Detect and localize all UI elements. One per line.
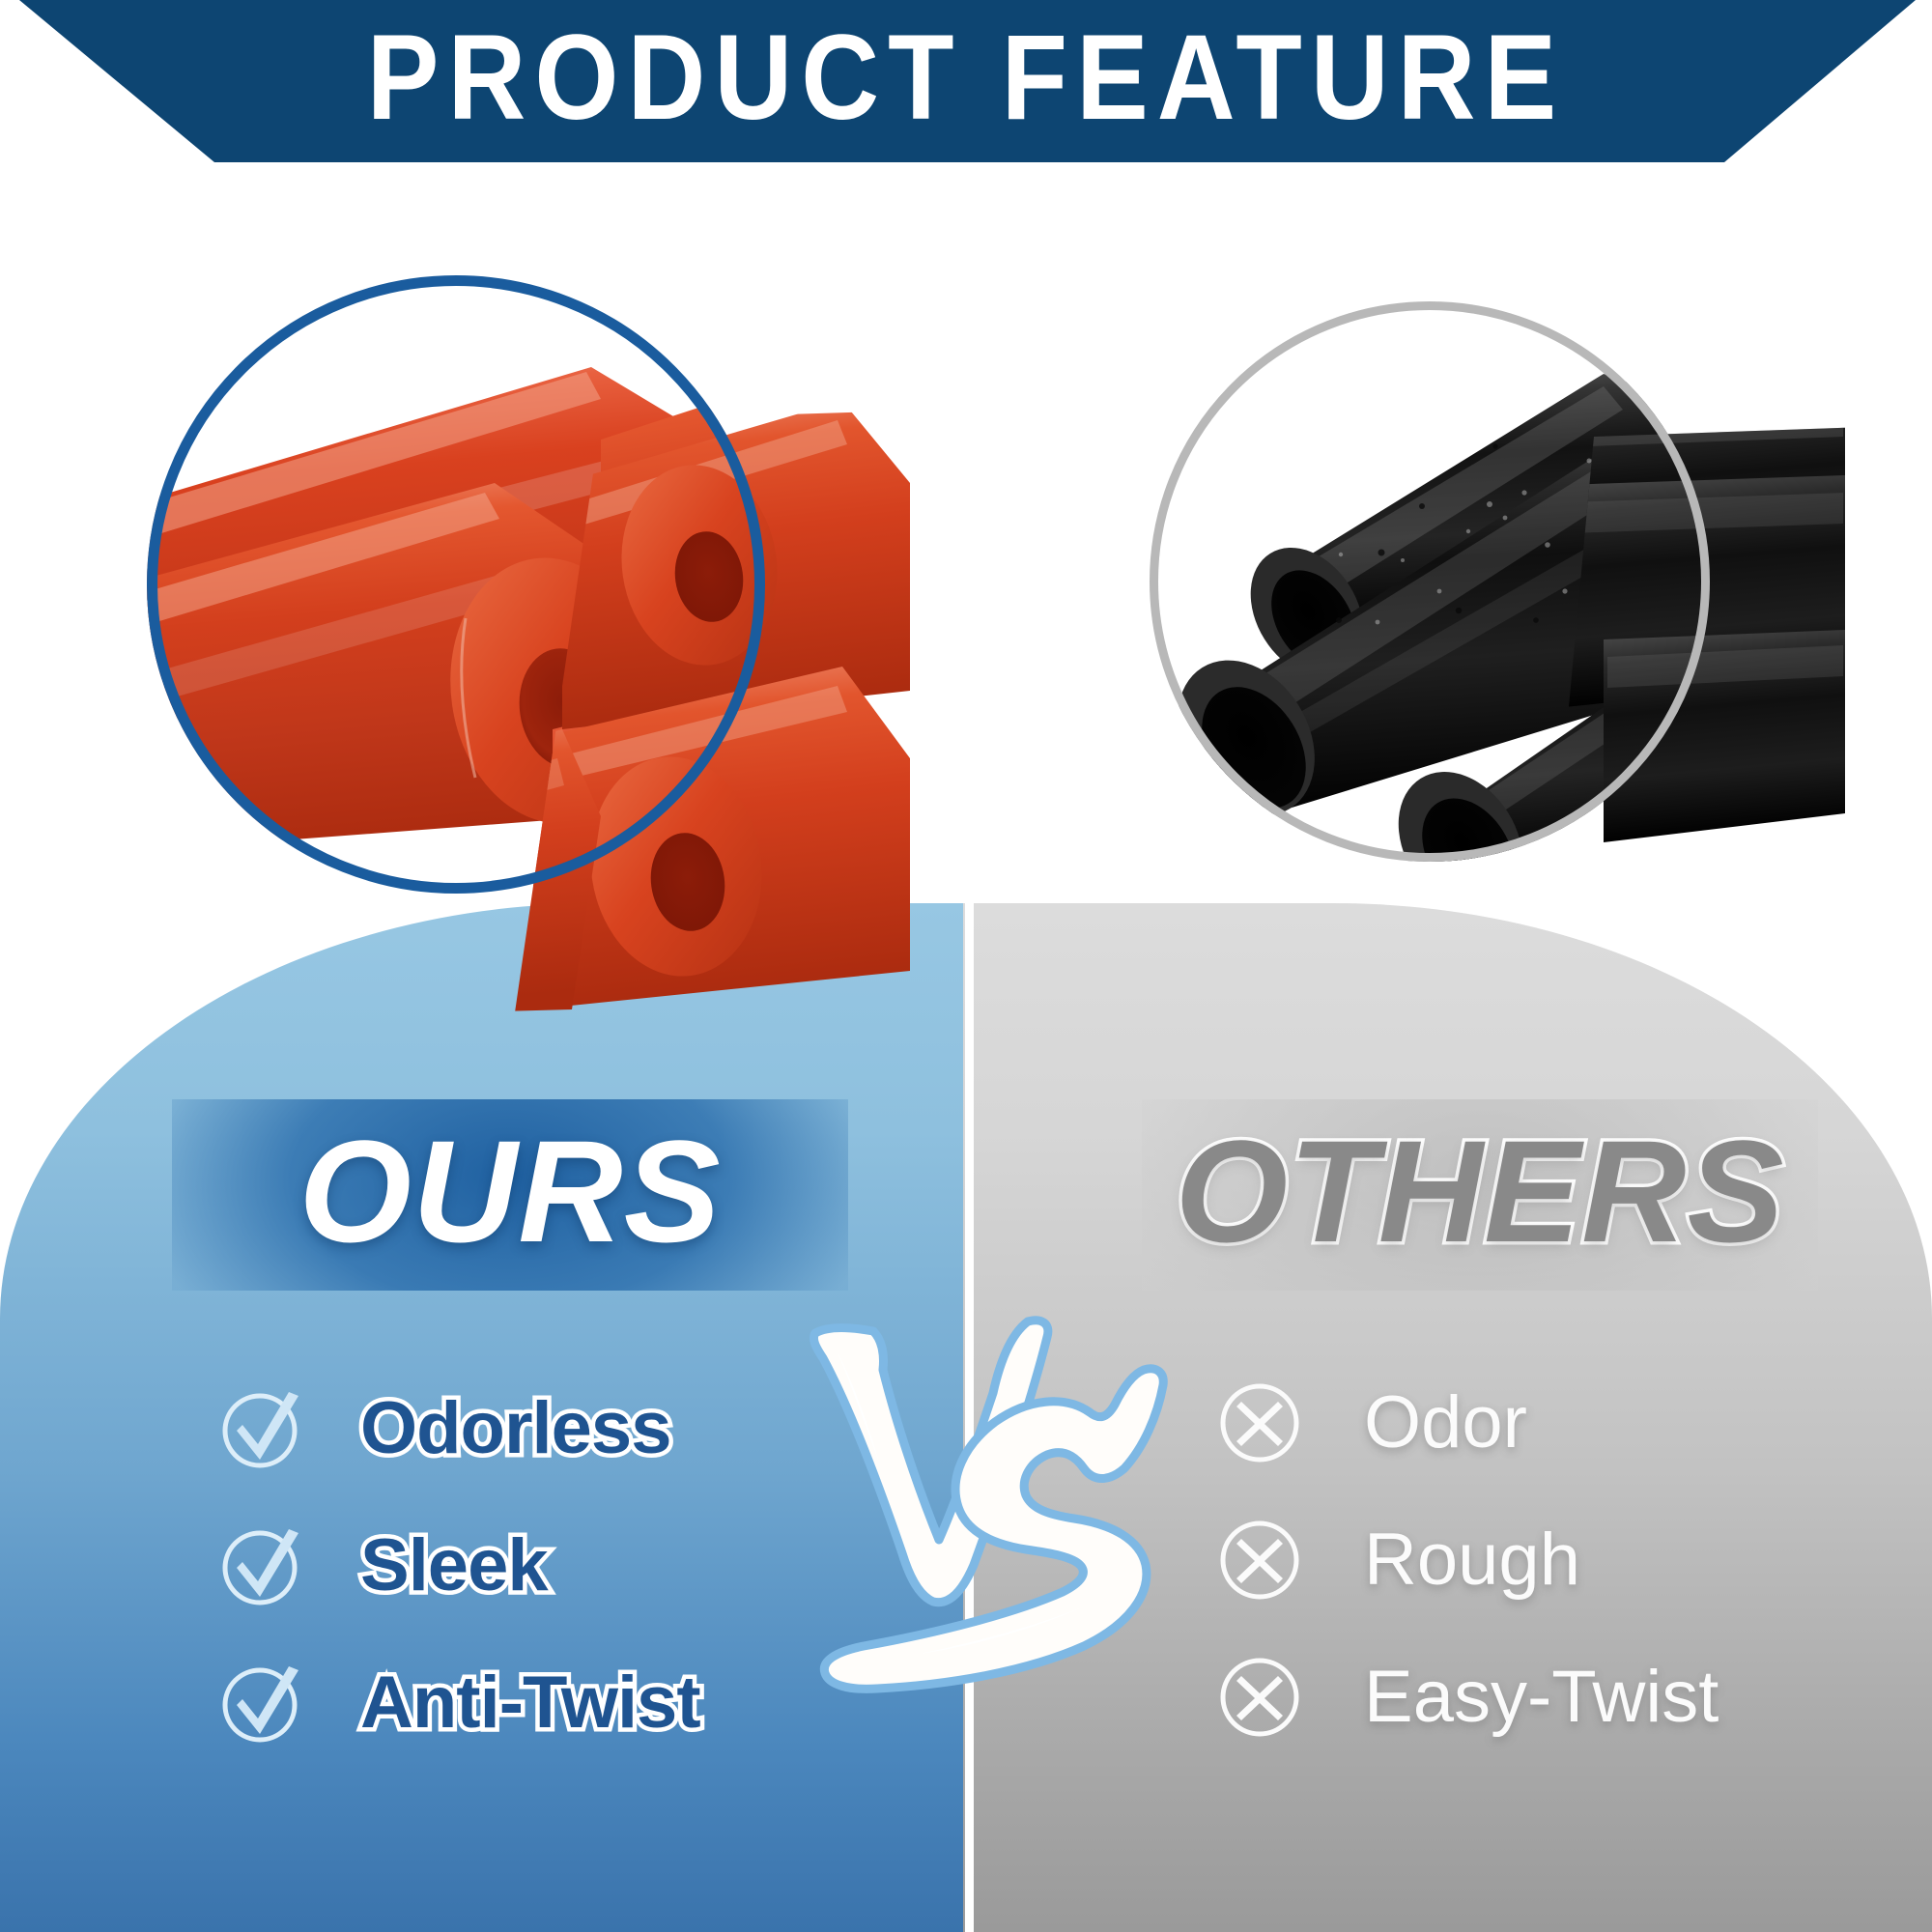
x-circle-icon [1215,1653,1304,1742]
label-band-others: OTHERS [1142,1099,1818,1291]
versus-icon [804,1316,1190,1731]
feature-label: Rough [1364,1523,1580,1597]
product-photo-others-clip [1150,301,1710,862]
feature-label: Odor [1364,1386,1527,1460]
label-ours: OURS [298,1119,721,1264]
feature-row-easy-twist: Easy-Twist [1215,1629,1719,1766]
check-circle-icon [217,1384,306,1473]
x-circle-icon [1215,1378,1304,1467]
check-circle-icon [217,1521,306,1610]
page-title: PRODUCT FEATURE [0,0,1932,172]
feature-list-ours: Odorless Sleek Anti-Twist [217,1360,700,1772]
x-circle-icon [1215,1516,1304,1605]
product-photo-others [1150,301,1710,862]
feature-list-others: Odor Rough Easy-Twist [1215,1354,1719,1766]
product-photo-ours-clip [147,275,765,894]
product-photo-ours [147,275,765,894]
black-tubes-image [1150,301,1710,862]
feature-row-odorless: Odorless [217,1360,700,1497]
feature-label: Odorless [360,1392,670,1465]
feature-label: Easy-Twist [1364,1661,1719,1734]
feature-label: Sleek [360,1529,548,1603]
feature-row-odor: Odor [1215,1354,1719,1492]
check-circle-icon [217,1659,306,1747]
feature-row-sleek: Sleek [217,1497,700,1634]
label-others: OTHERS [1175,1119,1784,1264]
label-band-ours: OURS [172,1099,848,1291]
feature-row-rough: Rough [1215,1492,1719,1629]
feature-row-anti-twist: Anti-Twist [217,1634,700,1772]
feature-label: Anti-Twist [360,1666,700,1740]
red-tubes-image [147,275,765,894]
